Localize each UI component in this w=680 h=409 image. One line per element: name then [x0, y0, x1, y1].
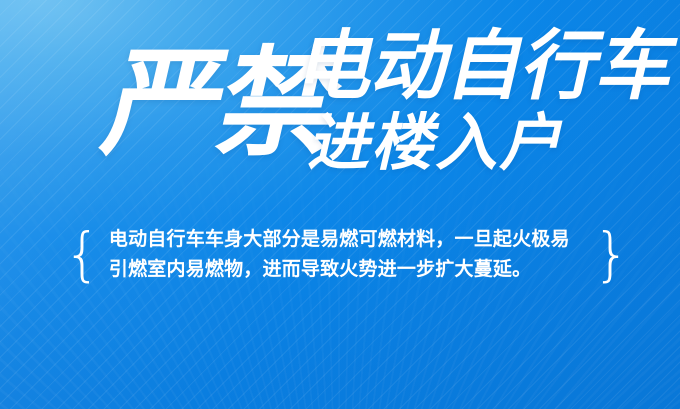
callout-line-2: 引燃室内易燃物，进而导致火势进一步扩大蔓延。 — [109, 254, 585, 284]
headline-right-block: 电动自行车 进楼入户 — [300, 26, 680, 176]
callout-line-1: 电动自行车车身大部分是易燃可燃材料，一旦起火极易 — [109, 224, 585, 254]
poster-headline: 严禁 电动自行车 进楼入户 — [0, 0, 680, 205]
right-brace-icon: } — [593, 224, 630, 284]
headline-line-2: 进楼入户 — [304, 110, 680, 176]
headline-line-1: 电动自行车 — [291, 26, 680, 106]
left-brace-icon: { — [64, 224, 101, 284]
callout-text: 电动自行车车身大部分是易燃可燃材料，一旦起火极易 引燃室内易燃物，进而导致火势进… — [109, 224, 585, 284]
fire-safety-poster: 严禁 电动自行车 进楼入户 { 电动自行车车身大部分是易燃可燃材料，一旦起火极易… — [0, 0, 680, 409]
callout-block: { 电动自行车车身大部分是易燃可燃材料，一旦起火极易 引燃室内易燃物，进而导致火… — [64, 224, 630, 284]
